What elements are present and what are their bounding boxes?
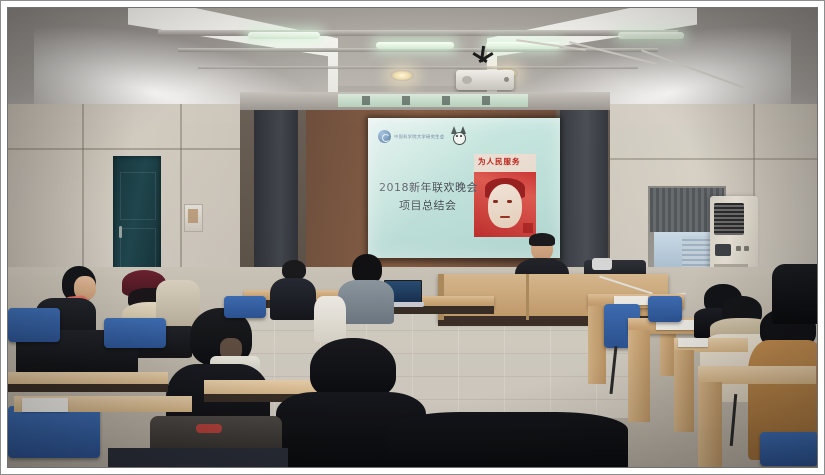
- chair-blue[interactable]: [104, 318, 166, 348]
- chair-blue[interactable]: [224, 296, 266, 318]
- ac-display-panel[interactable]: [715, 244, 731, 256]
- desk-leg: [698, 382, 722, 467]
- projector: [456, 70, 514, 90]
- mascot-icon: [450, 126, 467, 146]
- poster-calligraphy-text: 为人民服务: [478, 156, 521, 167]
- person-torso: [314, 296, 346, 342]
- paper-sheet: [678, 338, 708, 347]
- ceiling-beam: [158, 30, 678, 36]
- organization-logo-icon: [378, 130, 391, 143]
- foreground-seat-back: [108, 448, 288, 467]
- right-desk-leg: [628, 330, 650, 422]
- chair-blue[interactable]: [648, 296, 682, 322]
- slide-title-line-2: 项目总结会: [399, 197, 457, 213]
- ceiling-downlight: [390, 70, 414, 81]
- person-head: [282, 260, 306, 280]
- ceiling-strip-light: [248, 32, 320, 39]
- foreground-person-silhouette: [388, 412, 628, 467]
- audience-member: [308, 296, 352, 342]
- poster-stamp-icon: [523, 223, 533, 233]
- slide-poster-image: 为人民服务: [474, 154, 536, 237]
- slide-organization-text: 中国科学院大学研究生会: [394, 134, 444, 140]
- desk-base: [8, 384, 168, 392]
- lecture-hall-photo: 中国科学院大学研究生会 为人民服务 2018新年联欢晚会 项目总结会: [8, 8, 817, 467]
- projector-mount: [470, 46, 496, 72]
- paper-sheet: [22, 398, 68, 412]
- slide-title-line-1: 2018新年联欢晚会: [379, 179, 478, 195]
- person-coat: [772, 264, 817, 324]
- chair-blue[interactable]: [760, 432, 817, 466]
- wall-switch-plate[interactable]: [184, 204, 203, 232]
- photo-frame: 中国科学院大学研究生会 为人民服务 2018新年联欢晚会 项目总结会: [0, 0, 825, 475]
- door-handle[interactable]: [119, 226, 122, 238]
- front-clerestory-glass: [338, 94, 528, 107]
- person-head: [310, 338, 396, 400]
- desk-leg: [674, 350, 694, 432]
- ceiling-beam: [198, 66, 638, 69]
- desk-edge: [526, 274, 529, 320]
- ac-grille-icon: [714, 203, 744, 235]
- chair-blue[interactable]: [8, 308, 60, 342]
- wall-seam: [8, 148, 258, 150]
- white-device: [592, 258, 612, 270]
- chair-blue[interactable]: [8, 406, 100, 458]
- backpack-logo: [196, 424, 222, 433]
- ceiling-strip-light: [618, 32, 684, 39]
- ceiling-strip-light: [376, 42, 454, 49]
- audience-member: [772, 264, 817, 324]
- presenter-hair: [529, 233, 555, 246]
